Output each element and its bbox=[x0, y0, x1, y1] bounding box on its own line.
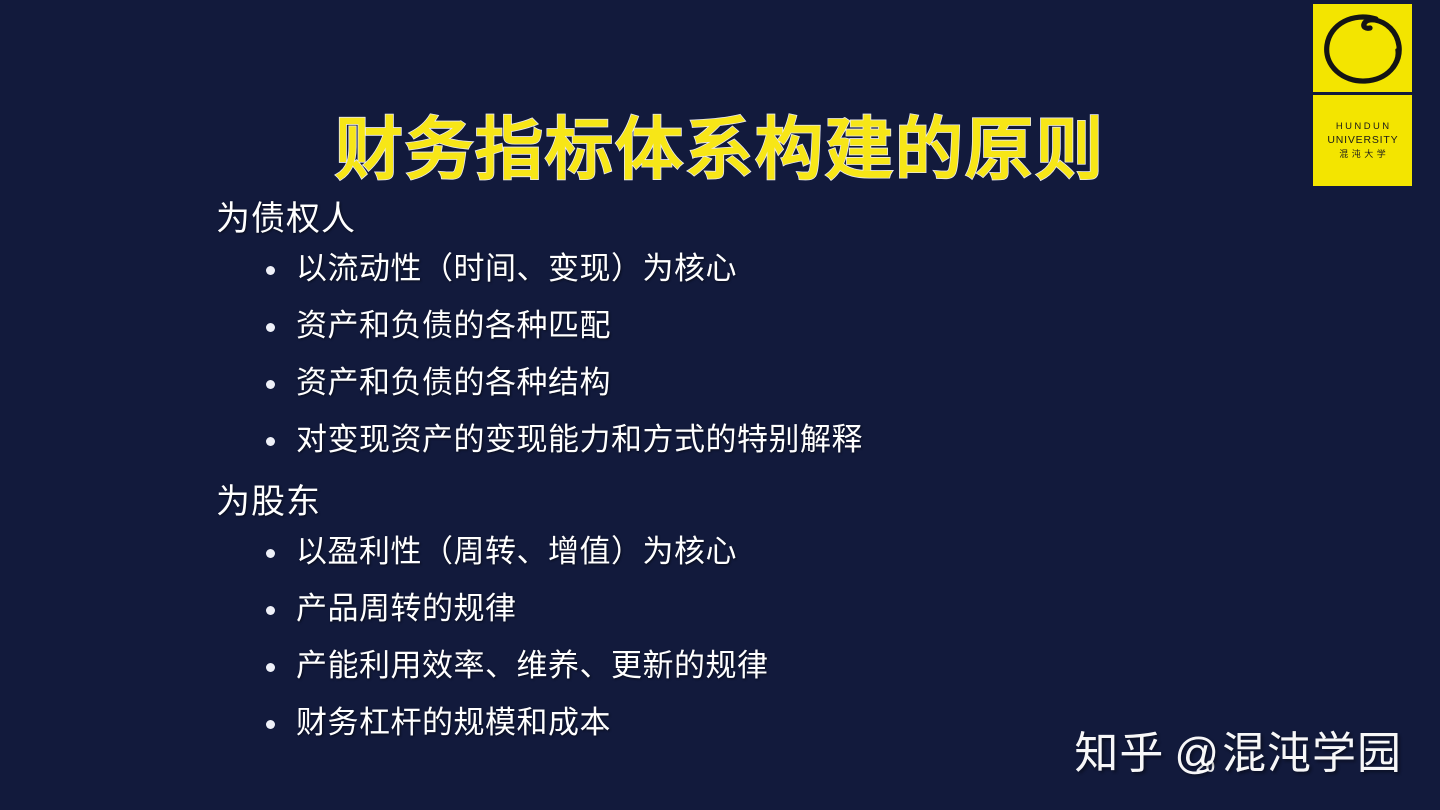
list-item: 资产和负债的各种结构 bbox=[264, 364, 1276, 402]
list-item-label: 产能利用效率、维养、更新的规律 bbox=[296, 648, 769, 683]
group-heading-shareholders: 为股东 bbox=[216, 479, 1276, 525]
bullet-list-creditors: 以流动性（时间、变现）为核心 资产和负债的各种匹配 资产和负债的各种结构 对变现… bbox=[216, 250, 1276, 459]
list-item-label: 产品周转的规律 bbox=[296, 591, 517, 626]
watermark-account: 混沌学园 bbox=[1222, 729, 1402, 778]
list-item-label: 以流动性（时间、变现）为核心 bbox=[296, 251, 737, 286]
bullet-dot-icon bbox=[266, 606, 275, 615]
list-item: 对变现资产的变现能力和方式的特别解释 bbox=[264, 421, 1276, 459]
bullet-dot-icon bbox=[266, 437, 275, 446]
list-item: 产能利用效率、维养、更新的规律 bbox=[264, 647, 1276, 685]
slide-title: 财务指标体系构建的原则 bbox=[0, 108, 1440, 192]
list-item: 以盈利性（周转、增值）为核心 bbox=[264, 533, 1276, 571]
list-item-label: 资产和负债的各种匹配 bbox=[296, 308, 611, 343]
bullet-dot-icon bbox=[266, 549, 275, 558]
slide-body: 为债权人 以流动性（时间、变现）为核心 资产和负债的各种匹配 资产和负债的各种结… bbox=[216, 196, 1276, 742]
list-item: 以流动性（时间、变现）为核心 bbox=[264, 250, 1276, 288]
slide-canvas: HUNDUN UNIVERSITY 混沌大学 财务指标体系构建的原则 为债权人 … bbox=[0, 0, 1440, 810]
bullet-dot-icon bbox=[266, 663, 275, 672]
watermark: 知乎@混沌学园 bbox=[1074, 728, 1402, 780]
bullet-list-shareholders: 以盈利性（周转、增值）为核心 产品周转的规律 产能利用效率、维养、更新的规律 财… bbox=[216, 533, 1276, 742]
watermark-at-symbol: @ bbox=[1174, 729, 1220, 778]
list-item-label: 财务杠杆的规模和成本 bbox=[296, 705, 611, 740]
group-heading-creditors: 为债权人 bbox=[216, 196, 1276, 242]
list-item: 资产和负债的各种匹配 bbox=[264, 307, 1276, 345]
watermark-platform: 知乎 bbox=[1074, 729, 1164, 778]
list-item-label: 对变现资产的变现能力和方式的特别解释 bbox=[296, 422, 863, 457]
list-item-label: 以盈利性（周转、增值）为核心 bbox=[296, 534, 737, 569]
list-item-label: 资产和负债的各种结构 bbox=[296, 365, 611, 400]
bullet-dot-icon bbox=[266, 380, 275, 389]
enso-brush-circle-icon bbox=[1313, 4, 1412, 92]
list-item: 产品周转的规律 bbox=[264, 590, 1276, 628]
bullet-dot-icon bbox=[266, 323, 275, 332]
bullet-dot-icon bbox=[266, 720, 275, 729]
bullet-dot-icon bbox=[266, 266, 275, 275]
